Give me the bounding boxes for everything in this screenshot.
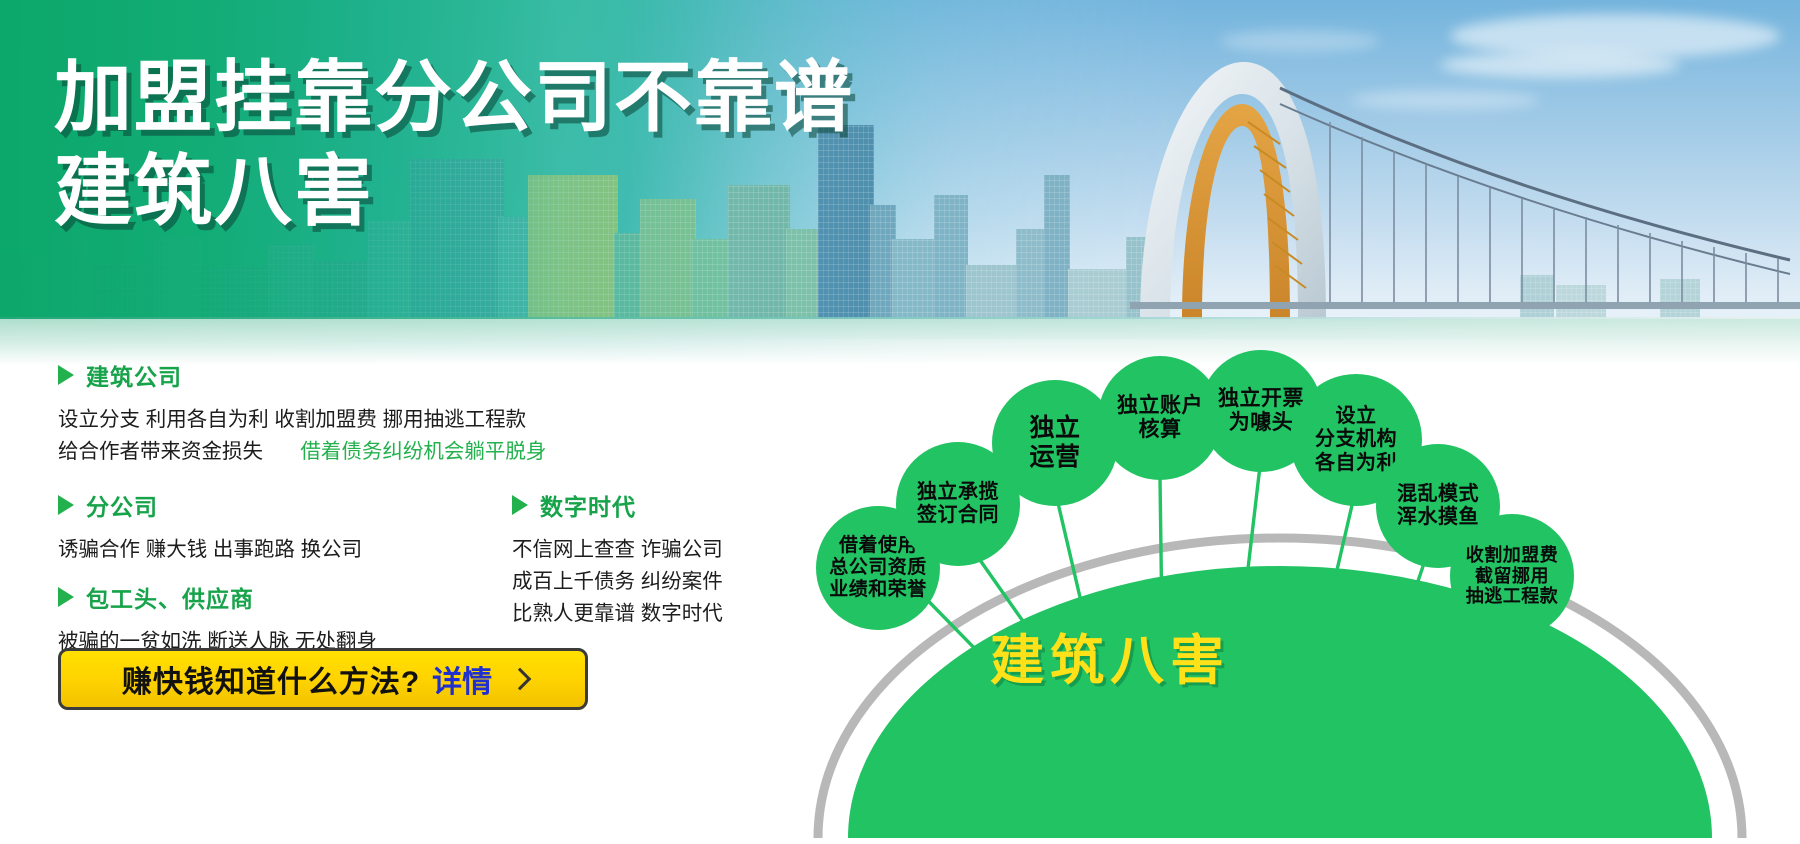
bubble-line: 浑水摸鱼 xyxy=(1397,506,1479,529)
bubble-line: 收割加盟费 xyxy=(1466,545,1559,566)
body-line-accent: 借着债务纠纷机会躺平脱身 xyxy=(300,440,546,463)
section-body-branch-company: 诱骗合作 赚大钱 出事跑路 换公司 xyxy=(58,534,362,566)
hero-banner: 加盟挂靠分公司不靠谱 建筑八害 xyxy=(0,0,1800,365)
triangle-bullet-icon xyxy=(58,495,74,515)
bubble-line: 分支机构 xyxy=(1315,428,1397,451)
bubble-line: 抽逃工程款 xyxy=(1466,586,1559,607)
bubble-line: 独立开票 xyxy=(1218,387,1304,411)
bubble-line: 独立账户 xyxy=(1117,394,1203,418)
left-content-column: 建筑公司 设立分支 利用各自为利 收割加盟费 挪用抽逃工程款 给合作者带来资金损… xyxy=(0,380,790,844)
body-line-plain: 给合作者带来资金损失 xyxy=(58,440,263,463)
section-body-construction-company: 设立分支 利用各自为利 收割加盟费 挪用抽逃工程款 给合作者带来资金损失 借着债… xyxy=(58,404,546,468)
bubble-diagram: 借着使用 总公司资质 业绩和荣誉 独立承揽 签订合同 独立 运营 独立账户 核算 xyxy=(790,338,1800,844)
body-line-mixed: 给合作者带来资金损失 借着债务纠纷机会躺平脱身 xyxy=(58,436,546,468)
section-heading-branch-company: 分公司 xyxy=(58,488,362,522)
page-title: 加盟挂靠分公司不靠谱 建筑八害 xyxy=(54,58,854,231)
body-line: 成百上千债务 纠纷案件 xyxy=(512,566,723,598)
body-line: 比熟人更靠谱 数字时代 xyxy=(512,598,723,630)
section-heading-label: 建筑公司 xyxy=(86,358,182,392)
bubble-line: 截留挪用 xyxy=(1466,566,1559,587)
title-line-1: 加盟挂靠分公司不靠谱 xyxy=(54,58,854,138)
bubble-line: 各自为利 xyxy=(1315,452,1397,475)
poster-root: 加盟挂靠分公司不靠谱 建筑八害 建筑公司 设立分支 利用各自为利 收割加盟费 挪… xyxy=(0,0,1800,844)
bubble-line: 核算 xyxy=(1117,418,1203,442)
triangle-bullet-icon xyxy=(58,587,74,607)
bubble-line: 业绩和荣誉 xyxy=(829,579,927,601)
cloud-shape xyxy=(1220,30,1380,52)
bubble-item[interactable]: 独立 运营 xyxy=(992,380,1118,506)
cta-link-label[interactable]: 详情 xyxy=(432,657,492,701)
section-heading-contractor-supplier: 包工头、供应商 xyxy=(58,580,377,614)
bubble-line: 独立 xyxy=(1029,414,1080,443)
section-heading-construction-company: 建筑公司 xyxy=(58,358,546,392)
bubble-line: 设立 xyxy=(1315,405,1397,428)
body-line: 不信网上查查 诈骗公司 xyxy=(512,534,723,566)
section-branch-company: 分公司 诱骗合作 赚大钱 出事跑路 换公司 xyxy=(58,488,362,566)
section-body-digital-era: 不信网上查查 诈骗公司 成百上千债务 纠纷案件 比熟人更靠谱 数字时代 xyxy=(512,534,723,629)
body-line: 设立分支 利用各自为利 收割加盟费 挪用抽逃工程款 xyxy=(58,404,546,436)
bubble-line: 运营 xyxy=(1029,443,1080,472)
bubble-line: 总公司资质 xyxy=(829,557,927,579)
bubble-line: 独立承揽 xyxy=(917,481,999,504)
cta-button[interactable]: 赚快钱知道什么方法? 详情 xyxy=(58,648,588,710)
section-heading-label: 包工头、供应商 xyxy=(86,580,254,614)
bubble-item[interactable]: 收割加盟费 截留挪用 抽逃工程款 xyxy=(1450,514,1574,638)
triangle-bullet-icon xyxy=(58,365,74,385)
bubble-line: 签订合同 xyxy=(917,504,999,527)
cta-label: 赚快钱知道什么方法? xyxy=(122,657,420,701)
section-contractor-supplier: 包工头、供应商 被骗的一贫如洗 断送人脉 无处翻身 xyxy=(58,580,377,658)
section-construction-company: 建筑公司 设立分支 利用各自为利 收割加盟费 挪用抽逃工程款 给合作者带来资金损… xyxy=(58,358,546,468)
section-heading-label: 分公司 xyxy=(86,488,158,522)
chevron-right-icon xyxy=(509,668,532,691)
body-line: 诱骗合作 赚大钱 出事跑路 换公司 xyxy=(58,534,362,566)
bubble-line: 混乱模式 xyxy=(1397,483,1479,506)
section-digital-era: 数字时代 不信网上查查 诈骗公司 成百上千债务 纠纷案件 比熟人更靠谱 数字时代 xyxy=(512,488,723,629)
title-line-2: 建筑八害 xyxy=(54,152,854,232)
section-heading-label: 数字时代 xyxy=(540,488,636,522)
dome-center-label: 建筑八害 xyxy=(990,616,1230,695)
section-heading-digital-era: 数字时代 xyxy=(512,488,723,522)
triangle-bullet-icon xyxy=(512,495,528,515)
bridge-illustration xyxy=(1130,52,1800,332)
